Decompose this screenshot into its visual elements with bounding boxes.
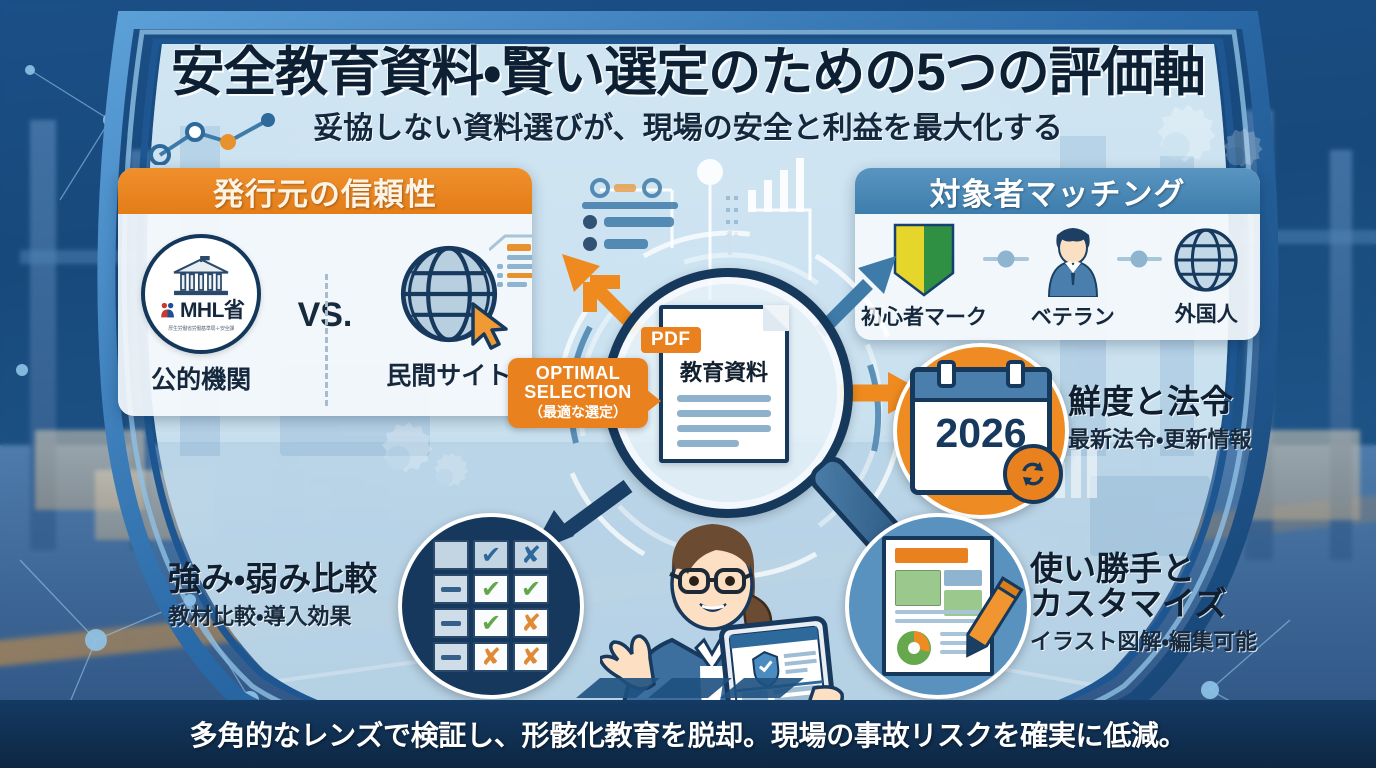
pillar-comparison-title: 強み・弱み比較 xyxy=(168,562,377,597)
private-site-item[interactable]: 民間サイト xyxy=(379,238,519,392)
badge-line-3: （最適な選定） xyxy=(515,402,641,422)
mhl-logo-icon xyxy=(158,300,177,319)
doc-line-4 xyxy=(677,440,739,447)
footer-banner: 多角的なレンズで検証し、形骸化教育を脱却。現場の事故リスクを確実に低減。 xyxy=(0,700,1376,768)
doc-photo-thumb xyxy=(944,570,982,586)
page-title: 安全教育資料・賢い選定のための5つの評価軸 xyxy=(0,30,1376,106)
globe-icon xyxy=(1172,226,1240,294)
document-pencil-icon xyxy=(882,536,994,676)
audience-veteran-label: ベテラン xyxy=(1031,301,1115,331)
private-site-label: 民間サイト xyxy=(386,356,511,392)
doc-line-3 xyxy=(677,425,771,432)
document-title: 教育資料 xyxy=(663,355,785,387)
mhl-label: MHL省 xyxy=(180,294,245,324)
doc-line-b xyxy=(895,619,981,623)
doc-line-2 xyxy=(677,410,771,417)
matrix-cell-2-0 xyxy=(433,608,469,638)
education-document[interactable]: PDF 教育資料 xyxy=(659,305,789,463)
matrix-cell-2-1: ✔ xyxy=(473,608,509,638)
audience-veteran[interactable]: ベテラン xyxy=(1029,223,1117,331)
cursor-icon xyxy=(467,300,513,352)
card-audience-matching-header: 対象者マッチング xyxy=(855,168,1260,214)
web-list-decoration xyxy=(489,232,532,292)
mhl-sublabel: 厚生労働省労働基準局＋安全課 xyxy=(168,325,234,332)
pillar-freshness-icon-circle[interactable]: 2026 xyxy=(893,343,1069,519)
infographic-canvas: 安全教育資料・賢い選定のための5つの評価軸 妥協しない資料選びが、現場の安全と利… xyxy=(0,0,1376,768)
matrix-cell-1-2: ✔ xyxy=(513,574,549,604)
pillar-comparison-text: 強み・弱み比較 教材比較・導入効果 xyxy=(168,562,377,631)
audience-connector-1 xyxy=(983,257,1029,261)
calendar-header xyxy=(915,372,1047,402)
matrix-cell-0-2: ✘ xyxy=(513,540,549,570)
matrix-cell-1-1: ✔ xyxy=(473,574,509,604)
doc-map-thumb xyxy=(895,570,941,606)
footer-chevrons xyxy=(0,678,1376,708)
pillar-freshness-text: 鮮度と法令 最新法令・更新情報 xyxy=(1068,385,1251,454)
calendar-icon: 2026 xyxy=(910,367,1052,495)
refresh-icon xyxy=(1003,444,1063,504)
pillar-usability-subtitle: イラスト図解・編集可能 xyxy=(1030,624,1257,656)
comparison-matrix-icon: ✔ ✘ ✔ ✔ ✔ ✘ ✘ ✘ xyxy=(433,540,549,672)
badge-line-2: SELECTION xyxy=(515,383,641,402)
audience-foreign[interactable]: 外国人 xyxy=(1162,226,1250,328)
public-institution-label: 公的機関 xyxy=(151,360,251,396)
card-publisher-trust-header: 発行元の信頼性 xyxy=(118,168,532,214)
matrix-cell-3-0 xyxy=(433,642,469,672)
pillar-usability-title-1: 使い勝手と xyxy=(1030,552,1257,587)
matrix-cell-1-0 xyxy=(433,574,469,604)
matrix-cell-3-1: ✘ xyxy=(473,642,509,672)
badge-line-1: OPTIMAL xyxy=(515,364,641,383)
trend-line-icon xyxy=(150,110,280,165)
matrix-cell-0-1: ✔ xyxy=(473,540,509,570)
gear-icon-mid-left-small xyxy=(418,450,472,504)
public-institution-item[interactable]: MHL省 厚生労働省労働基準局＋安全課 公的機関 xyxy=(131,234,271,396)
pillar-freshness-title: 鮮度と法令 xyxy=(1068,385,1251,420)
pillar-usability-title-2: カスタマイズ xyxy=(1030,587,1257,622)
calendar-ring-right xyxy=(1006,360,1025,388)
pillar-usability-icon-circle[interactable] xyxy=(845,513,1031,699)
pie-chart-icon xyxy=(894,628,934,668)
doc-line-1 xyxy=(677,395,771,402)
pillar-comparison-subtitle: 教材比較・導入効果 xyxy=(168,599,377,631)
audience-connector-2 xyxy=(1117,257,1163,261)
mhl-ministry-icon: MHL省 厚生労働省労働基準局＋安全課 xyxy=(141,234,261,354)
pdf-badge: PDF xyxy=(641,327,701,353)
card-publisher-trust[interactable]: 発行元の信頼性 xyxy=(118,168,532,416)
pillar-comparison-icon-circle[interactable]: ✔ ✘ ✔ ✔ ✔ ✘ ✘ ✘ xyxy=(398,513,584,699)
matrix-cell-0-0 xyxy=(433,540,469,570)
optimal-selection-badge: OPTIMAL SELECTION （最適な選定） xyxy=(508,358,648,428)
matrix-cell-3-2: ✘ xyxy=(513,642,549,672)
matrix-cell-2-2: ✘ xyxy=(513,608,549,638)
pillar-freshness-subtitle: 最新法令・更新情報 xyxy=(1068,422,1251,454)
audience-foreign-label: 外国人 xyxy=(1175,298,1238,328)
business-person-icon xyxy=(1041,223,1105,297)
doc-header-bar xyxy=(895,548,968,563)
calendar-ring-left xyxy=(937,360,956,388)
pillar-usability-text: 使い勝手と カスタマイズ イラスト図解・編集可能 xyxy=(1030,552,1257,656)
vs-divider xyxy=(325,274,328,406)
doc-line-a xyxy=(895,610,981,614)
footer-text: 多角的なレンズで検証し、形骸化教育を脱却。現場の事故リスクを確実に低減。 xyxy=(190,714,1187,754)
